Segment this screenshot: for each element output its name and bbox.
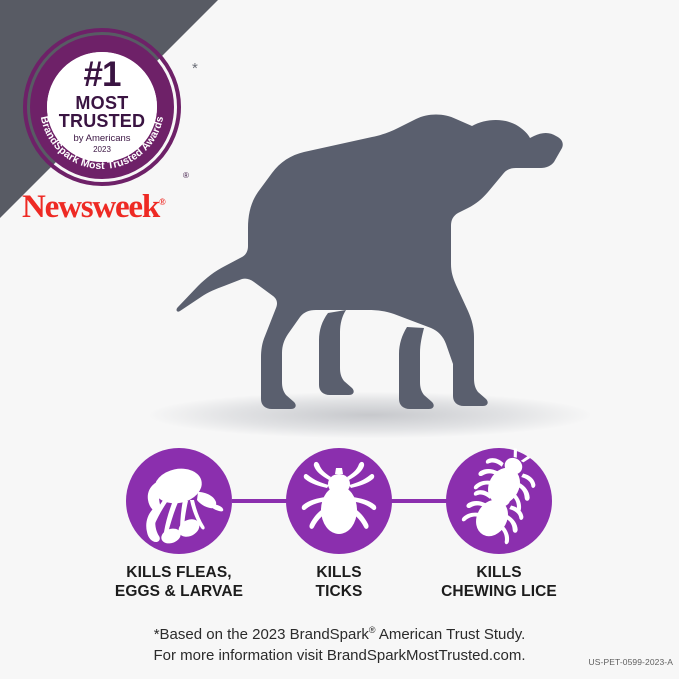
newsweek-wordmark: Newsweek® — [22, 185, 166, 224]
claim-circle-ticks — [286, 448, 392, 554]
badge-asterisk: * — [192, 64, 198, 74]
footnote-line-1-post: American Trust Study. — [376, 626, 526, 643]
claim-circle-chewing-lice — [446, 448, 552, 554]
badge-rank: #1 — [84, 58, 121, 91]
claim-label-lice: KILLS CHEWING LICE — [399, 563, 599, 601]
newsweek-trademark: ® — [159, 197, 166, 207]
badge-subtitle: by Americans — [73, 133, 130, 144]
product-claims-image: BrandSpark Most Trusted Awards #1 MOST T… — [0, 0, 679, 679]
footnote: *Based on the 2023 BrandSpark® American … — [0, 620, 679, 666]
dog-silhouette — [176, 96, 596, 436]
tick-icon — [286, 448, 392, 554]
claim-circle-fleas — [126, 448, 232, 554]
footnote-line-2: For more information visit BrandSparkMos… — [0, 645, 679, 666]
claim-label-lice-line2: CHEWING LICE — [399, 582, 599, 601]
footnote-line-1: *Based on the 2023 BrandSpark® American … — [0, 620, 679, 645]
trust-badge: BrandSpark Most Trusted Awards #1 MOST T… — [23, 28, 181, 186]
chewing-lice-icon — [446, 448, 552, 554]
badge-year: 2023 — [93, 145, 111, 155]
badge-line-most: MOST — [75, 94, 128, 112]
footnote-registered-mark: ® — [369, 625, 376, 635]
product-code: US-PET-0599-2023-A — [589, 657, 673, 667]
badge-core: #1 MOST TRUSTED by Americans 2023 — [47, 52, 157, 162]
newsweek-text: Newsweek — [22, 189, 159, 225]
flea-eggs-larvae-icon — [126, 448, 232, 554]
footnote-line-1-pre: *Based on the 2023 BrandSpark — [154, 626, 369, 643]
claim-label-lice-line1: KILLS — [399, 563, 599, 582]
badge-line-trusted: TRUSTED — [59, 112, 145, 131]
